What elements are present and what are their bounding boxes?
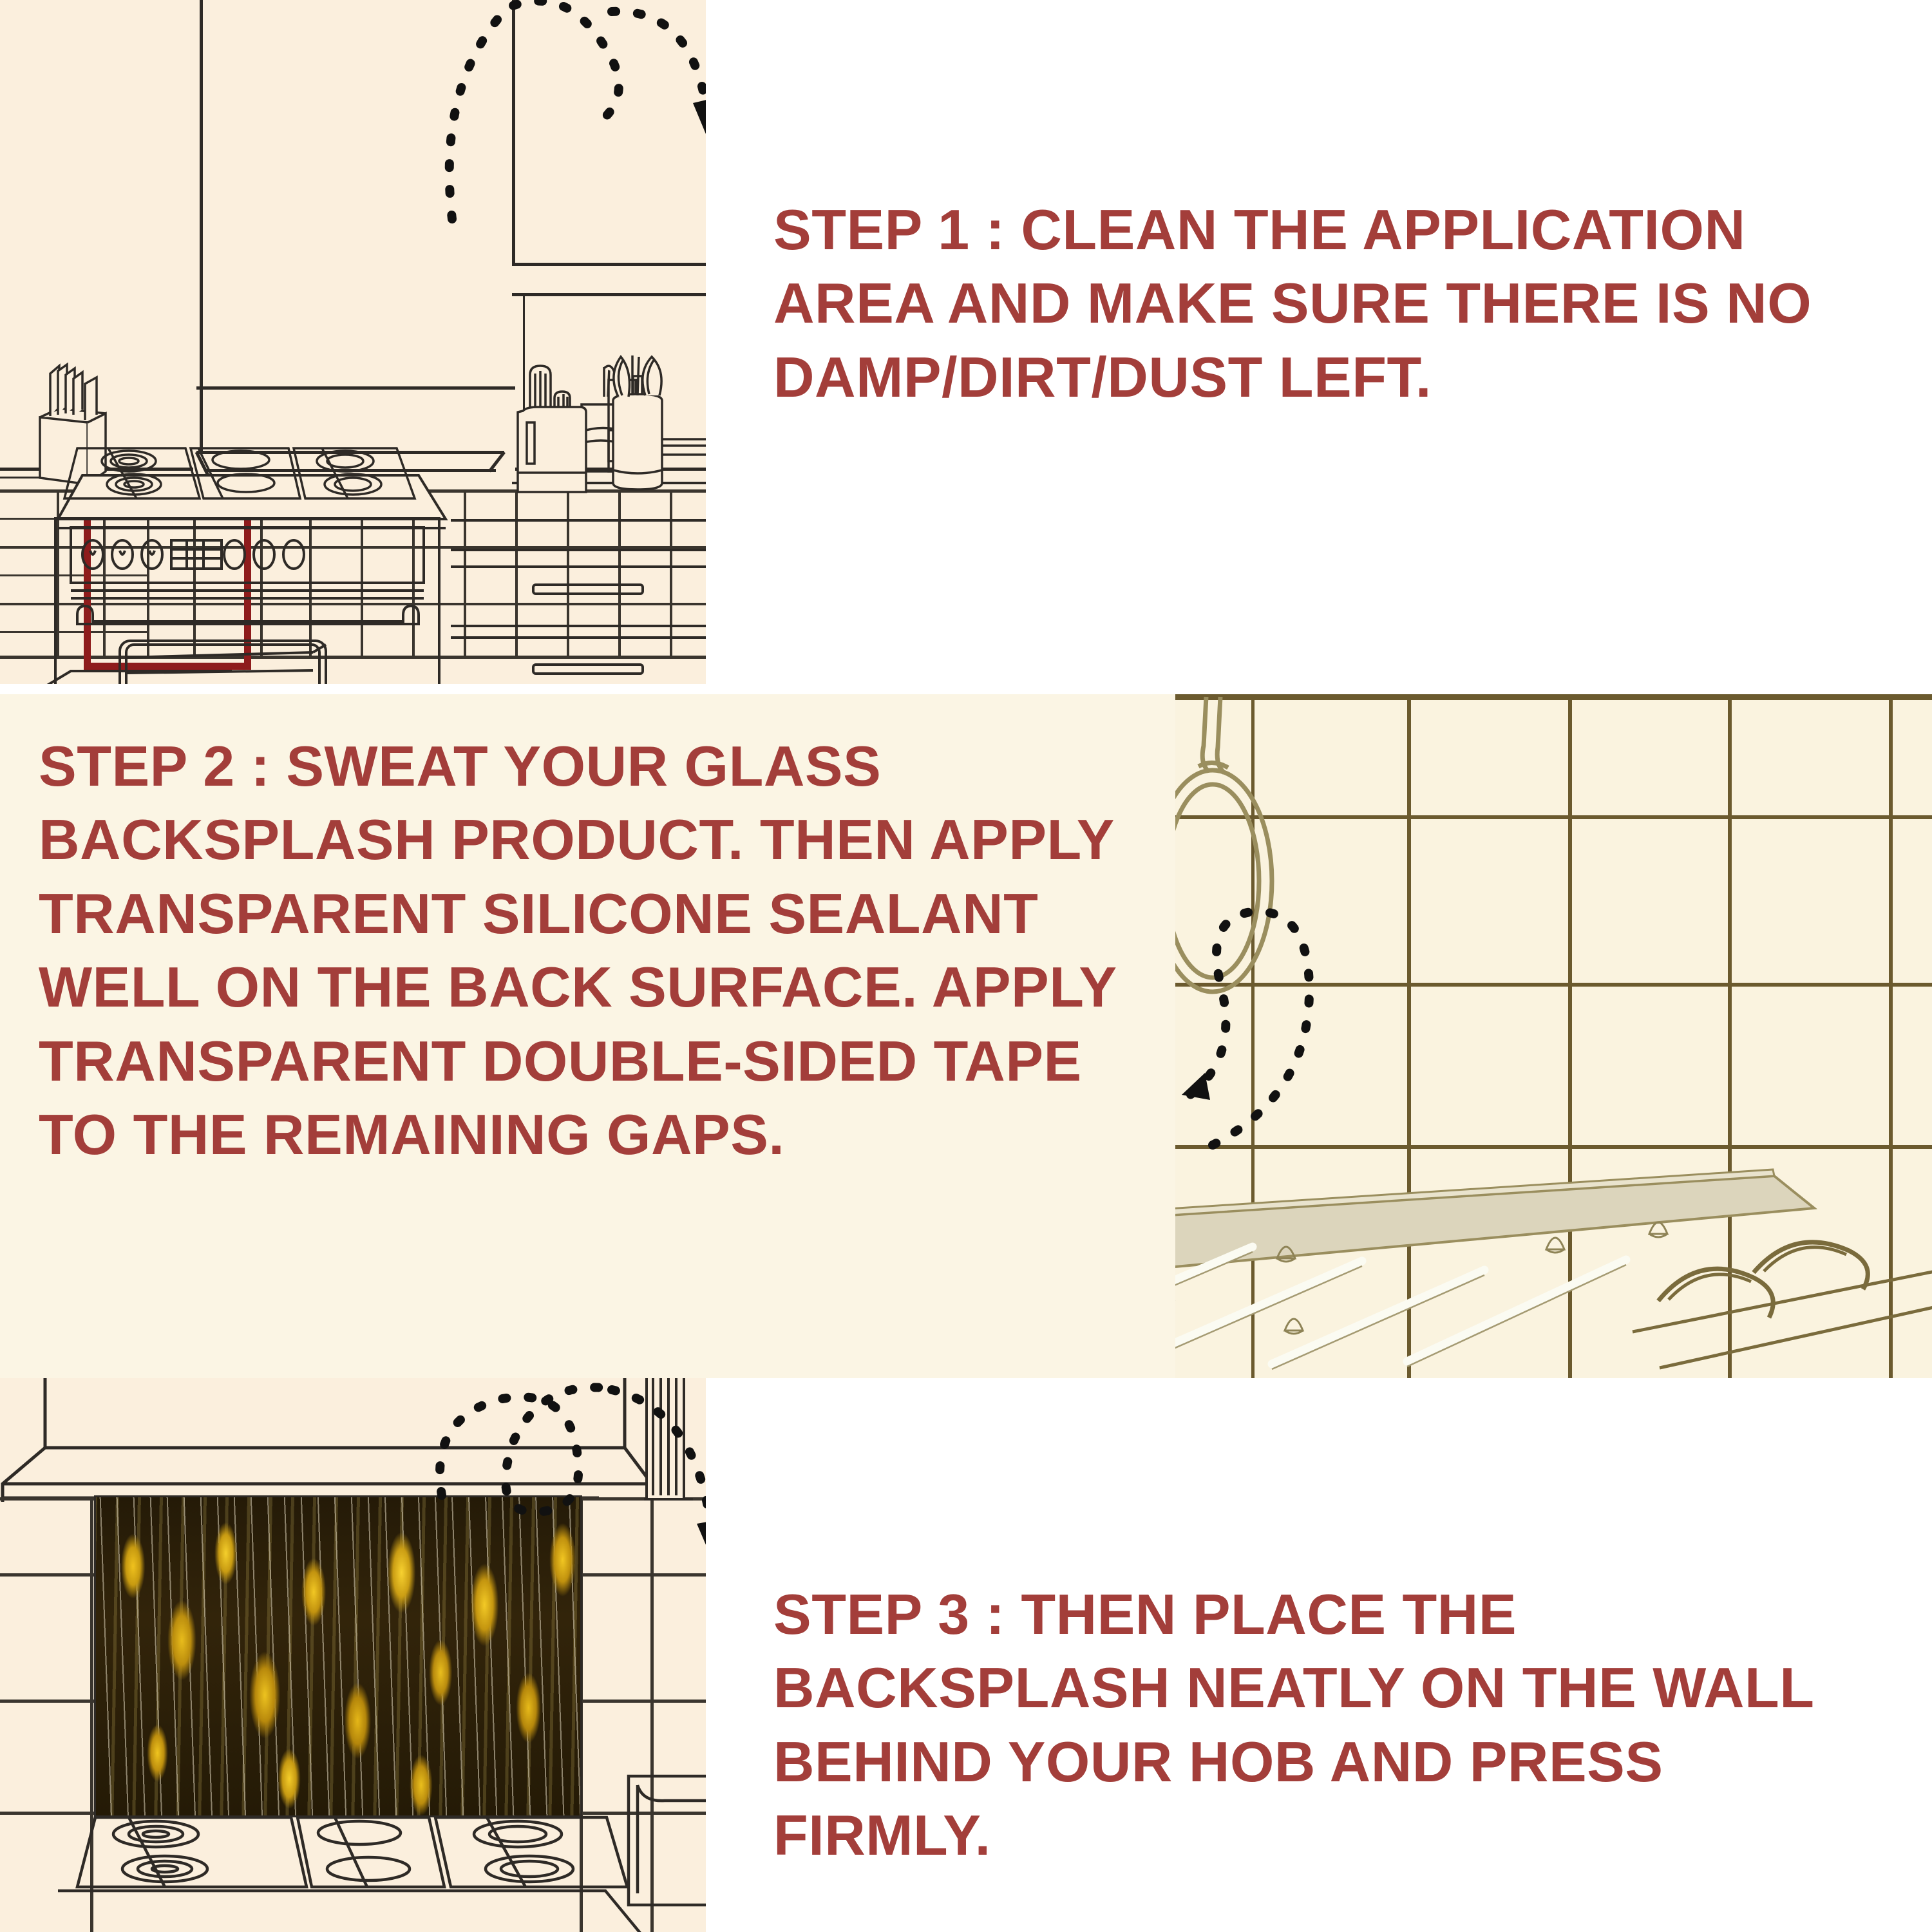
hood-left-edge (200, 0, 203, 451)
instructional-poster: STEP 1 : CLEAN THE APPLICATION AREA AND … (0, 0, 1932, 1932)
toaster (515, 379, 592, 501)
cooker-burners (62, 444, 448, 522)
step-3-text-panel: STEP 3 : THEN PLACE THE BACKSPLASH NEATL… (706, 1378, 1932, 1932)
step-2-text-panel: STEP 2 : SWEAT YOUR GLASS BACKSPLASH PRO… (0, 694, 1175, 1378)
step-3-illustration (0, 1378, 706, 1932)
dashed-arrow-step-3 (406, 1378, 706, 1584)
counter-edge-right-step3 (618, 1771, 706, 1932)
step-2-photo (1175, 694, 1932, 1378)
base-cabinet-drawers (451, 520, 706, 694)
hood-band-top (196, 386, 515, 390)
utensil-holder (592, 353, 683, 501)
hob-under-panel (1620, 1139, 1932, 1378)
cooker-body (55, 518, 461, 694)
step-2-text: STEP 2 : SWEAT YOUR GLASS BACKSPLASH PRO… (39, 730, 1146, 1171)
shelf-under-line (512, 293, 706, 296)
shelf-top-line (512, 263, 706, 266)
dashed-arrow-step-1 (425, 0, 706, 238)
dashed-arrow-step-2 (1175, 694, 1414, 1184)
step-1-text-panel: STEP 1 : CLEAN THE APPLICATION AREA AND … (706, 0, 1932, 694)
hob-step3 (39, 1811, 706, 1932)
step-1-illustration (0, 0, 706, 694)
step-3-text: STEP 3 : THEN PLACE THE BACKSPLASH NEATL… (773, 1578, 1881, 1873)
step-1-text: STEP 1 : CLEAN THE APPLICATION AREA AND … (773, 193, 1881, 414)
